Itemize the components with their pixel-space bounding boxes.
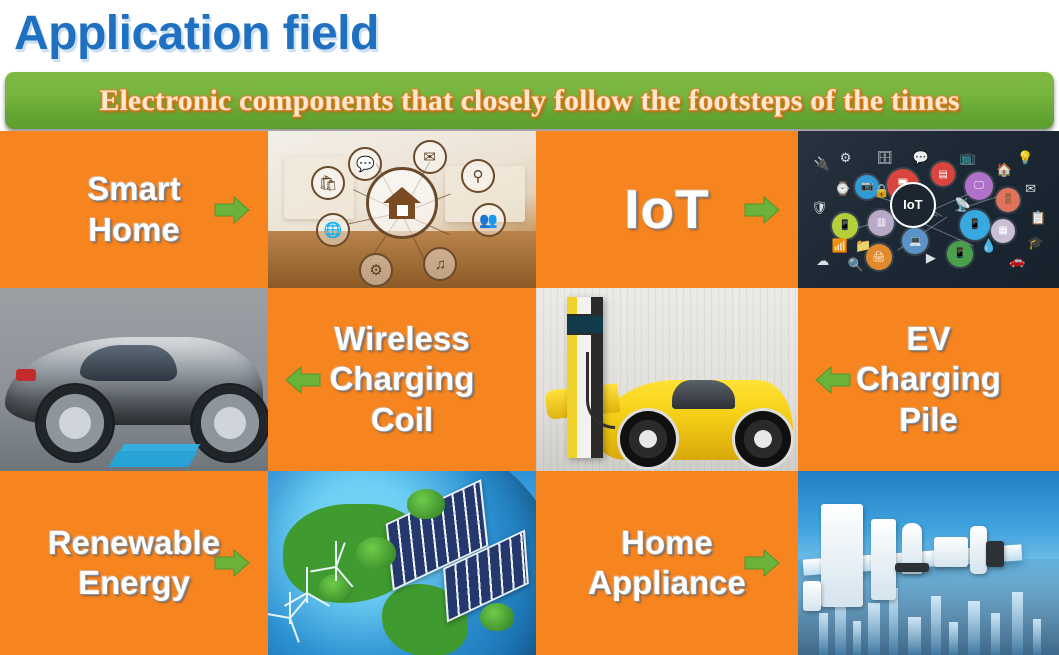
building [908, 617, 921, 655]
smart-home-label: Smart Home [81, 169, 187, 250]
iot-label: IoT [618, 176, 715, 243]
cloud-icon: ☁ [816, 253, 829, 269]
chat-icon: 💬 [913, 150, 929, 166]
microwave-icon: 📺 [960, 150, 976, 166]
cell-iot-image: IoT 🖥 ▤ 🖵 📷 📱 ▥ 📱 🚪 ▦ 💻 📱 🖨 🔌 ⚙ 🗄 💬 📺 💡 [798, 131, 1059, 288]
house-icon [366, 167, 438, 239]
small-appliance [803, 581, 821, 610]
home-appliance-photo [798, 471, 1059, 655]
wireless-charging-coil-label: Wireless Charging Coil [324, 319, 481, 440]
application-field-slide: Application field Electronic components … [0, 0, 1059, 655]
application-grid: Smart Home [0, 131, 1059, 655]
tagline-banner: Electronic components that closely follo… [5, 72, 1054, 129]
renewable-energy-label: Renewable Energy [42, 523, 226, 604]
cell-smart-home-image: 💬 ✉ ⚲ 👥 ♫ ⚙ 🌐 🛍 [268, 131, 536, 288]
building [819, 613, 828, 655]
mail-icon: ✉ [1025, 181, 1036, 197]
tree [356, 537, 396, 569]
ev-charging-pile-photo [536, 288, 798, 471]
search-icon: 🔍 [848, 257, 864, 273]
water-dispenser [871, 519, 896, 600]
building [968, 601, 980, 655]
device-node-icon: ▤ [931, 162, 955, 186]
arrow-right-icon [213, 546, 251, 580]
tree [480, 603, 514, 631]
building [931, 596, 941, 655]
charging-pile-display [567, 314, 603, 335]
tv-node-icon: 🖵 [965, 172, 993, 200]
watch-icon: ⌚ [835, 181, 851, 197]
laptop-node-icon: 💻 [902, 228, 928, 254]
people-icon: 👥 [472, 203, 506, 237]
cooktop [895, 563, 929, 572]
renewable-energy-photo [268, 471, 536, 655]
mail-icon: ✉ [413, 140, 447, 174]
arrow-left-icon [814, 363, 852, 397]
door-node-icon: 🚪 [996, 188, 1020, 212]
shield-icon: 🛡 [811, 200, 828, 216]
tail-light [16, 369, 36, 381]
phone-node-icon: 📱 [832, 213, 858, 239]
range-hood [934, 537, 968, 566]
arrow-right-icon [743, 546, 781, 580]
label-line: EV [856, 319, 1001, 359]
label-line: IoT [624, 176, 709, 243]
wind-turbine [335, 541, 337, 581]
wind-turbine [289, 592, 291, 624]
tree [407, 489, 445, 519]
bag-icon: 🛍 [311, 166, 345, 200]
building [853, 621, 861, 655]
wireless-charging-pad [108, 451, 198, 467]
clipboard-icon: 📋 [1030, 210, 1046, 226]
car-wheel [38, 386, 112, 460]
car-windshield [672, 380, 735, 409]
car-wheel [193, 386, 267, 460]
label-line: Pile [856, 400, 1001, 440]
cell-renewable-energy[interactable]: Renewable Energy [0, 471, 268, 655]
smart-home-illustration: 💬 ✉ ⚲ 👥 ♫ ⚙ 🌐 🛍 [268, 131, 536, 288]
building [1012, 592, 1023, 655]
plug-icon: 🔌 [814, 156, 830, 172]
video-icon: ▶ [926, 250, 936, 266]
water-purifier [970, 526, 987, 574]
ev-charging-pile-label: EV Charging Pile [850, 319, 1007, 440]
label-line: Charging [330, 359, 475, 399]
router-icon: 📡 [955, 197, 971, 213]
label-line: Home [588, 523, 746, 563]
cell-ev-charging-image [536, 288, 798, 471]
cell-iot[interactable]: IoT [536, 131, 798, 288]
home-appliance-label: Home Appliance [582, 523, 752, 604]
refrigerator [821, 504, 863, 607]
building [1033, 619, 1041, 655]
mobile-node-icon: 📱 [947, 241, 973, 267]
car-window [80, 345, 176, 382]
label-line: Smart [87, 169, 181, 209]
cell-wireless-charging-car-image [0, 288, 268, 471]
cell-renewable-energy-image [268, 471, 536, 655]
cell-smart-home[interactable]: Smart Home [0, 131, 268, 288]
cell-home-appliance-image [798, 471, 1059, 655]
home-icon: 🏠 [996, 162, 1012, 178]
page-title: Application field [14, 6, 379, 61]
room-floor [268, 231, 536, 288]
cell-home-appliance[interactable]: Home Appliance [536, 471, 798, 655]
bulb-icon: 💡 [1017, 150, 1033, 166]
tablet-node-icon: 📱 [960, 210, 990, 240]
small-appliance [986, 541, 1004, 567]
wireless-charging-car-photo [0, 288, 268, 471]
gears-icon: ⚙ [840, 150, 852, 166]
water-drop-icon: 💧 [981, 238, 997, 254]
cell-ev-charging-pile[interactable]: EV Charging Pile [798, 288, 1059, 471]
building [949, 622, 958, 655]
arrow-left-icon [284, 363, 322, 397]
building [991, 613, 1000, 655]
car-icon: 🚗 [1009, 253, 1025, 269]
globe-icon: 🌐 [316, 213, 350, 247]
label-line: Charging [856, 359, 1001, 399]
building [868, 603, 880, 655]
cell-wireless-charging-coil[interactable]: Wireless Charging Coil [268, 288, 536, 471]
graduation-icon: 🎓 [1028, 235, 1044, 251]
page-title-area: Application field [14, 2, 379, 64]
car-wheel [620, 411, 676, 467]
arrow-right-icon [743, 193, 781, 227]
arrow-right-icon [213, 193, 251, 227]
label-line: Appliance [588, 563, 746, 603]
pin-icon: ⚲ [461, 159, 495, 193]
chat-icon: 💬 [348, 147, 382, 181]
label-line: Home [87, 210, 181, 250]
lock-icon: 🔒 [874, 183, 890, 199]
label-line: Wireless [330, 319, 475, 359]
label-line: Energy [48, 563, 220, 603]
tagline-text: Electronic components that closely follo… [99, 84, 959, 118]
folder-icon: 📁 [855, 238, 871, 254]
iot-network-illustration: IoT 🖥 ▤ 🖵 📷 📱 ▥ 📱 🚪 ▦ 💻 📱 🖨 🔌 ⚙ 🗄 💬 📺 💡 [798, 131, 1059, 288]
label-line: Coil [330, 400, 475, 440]
iot-hub-node: IoT [890, 182, 936, 228]
database-icon: 🗄 [876, 150, 893, 166]
label-line: Renewable [48, 523, 220, 563]
wifi-icon: 📶 [832, 238, 848, 254]
